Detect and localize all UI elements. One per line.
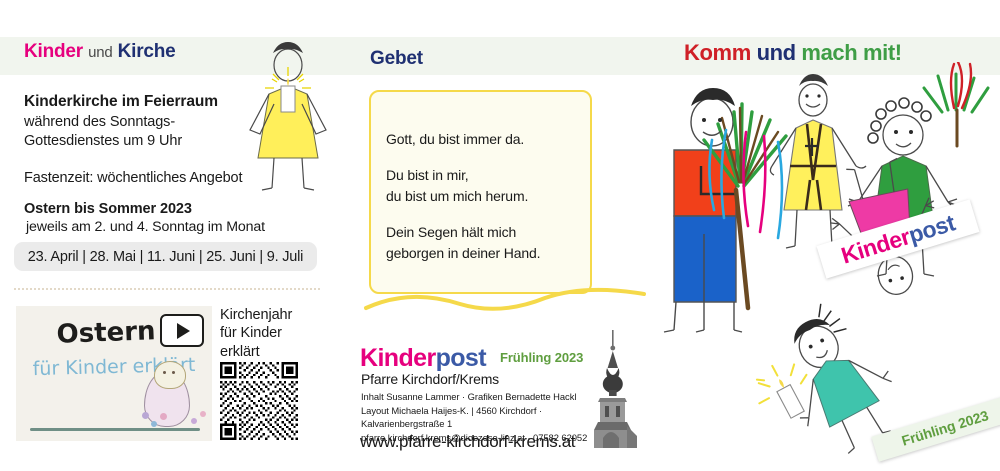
caption-line-3: erklärt	[220, 343, 316, 361]
footer-season: Frühling 2023	[500, 350, 583, 365]
drawing-palm-bundle-top	[924, 62, 988, 146]
kinderpost-logo: Kinderpost	[360, 344, 486, 373]
video-caption: Kirchenjahr für Kinder erklärt	[220, 306, 316, 361]
prayer-text: Gott, du bist immer da. Du bist in mir, …	[386, 129, 578, 264]
church-steeple-photo	[585, 326, 643, 448]
stanza3-line1: Dein Segen hält mich	[386, 224, 516, 240]
heading-part-und: und	[88, 44, 112, 61]
caption-line-2: für Kinder	[220, 324, 316, 342]
heading-part-kinder: Kinder	[24, 41, 83, 62]
prayer-stanza-1: Gott, du bist immer da.	[386, 129, 578, 150]
footer-website[interactable]: www.pfarre-kirchdorf-krems.at	[360, 432, 575, 452]
ground-line	[30, 428, 200, 431]
chick-icon	[154, 361, 186, 389]
page-canvas: Kinder und Kirche Kinderkirche im Feierr…	[0, 0, 1000, 471]
heading-part-kirche: Kirche	[118, 41, 176, 62]
imprint-line-2: Layout Michaela Haijes-K. | 4560 Kirchdo…	[361, 404, 611, 431]
dotted-divider	[14, 288, 320, 290]
confetti-dot	[151, 421, 157, 427]
footer-parish: Pfarre Kirchdorf/Krems	[361, 371, 499, 387]
logo-part-post: post	[436, 344, 486, 372]
video-title: Ostern	[56, 316, 156, 349]
caption-line-1: Kirchenjahr	[220, 306, 316, 324]
video-thumbnail[interactable]: Ostern für Kinder erklärt	[16, 306, 212, 441]
prayer-stanza-3: Dein Segen hält mich geborgen in deiner …	[386, 222, 578, 264]
drawing-girl-with-candle	[232, 38, 344, 218]
logo-part-kinder: Kinder	[360, 344, 436, 372]
confetti-dot	[160, 413, 167, 420]
prayer-box: Gott, du bist immer da. Du bist in mir, …	[369, 90, 592, 294]
season-detail: jeweils am 2. und 4. Sonntag im Monat	[26, 219, 326, 235]
confetti-dot	[200, 411, 206, 417]
decorative-squiggle	[360, 286, 650, 312]
imprint-line-1: Inhalt Susanne Lammer · Grafiken Bernade…	[361, 390, 611, 404]
play-icon[interactable]	[160, 314, 204, 347]
gebet-title: Gebet	[370, 48, 423, 70]
prayer-stanza-2: Du bist in mir, du bist um mich herum.	[386, 165, 578, 207]
confetti-dot	[142, 412, 149, 419]
stanza2-line2: du bist um mich herum.	[386, 188, 528, 204]
stanza3-line2: geborgen in deiner Hand.	[386, 245, 540, 261]
qr-code-icon[interactable]	[220, 362, 298, 440]
dates-pill: 23. April | 28. Mai | 11. Juni | 25. Jun…	[14, 242, 317, 271]
confetti-dot	[191, 418, 197, 424]
stanza2-line1: Du bist in mir,	[386, 167, 469, 183]
drawing-boy-with-palm	[664, 88, 786, 332]
